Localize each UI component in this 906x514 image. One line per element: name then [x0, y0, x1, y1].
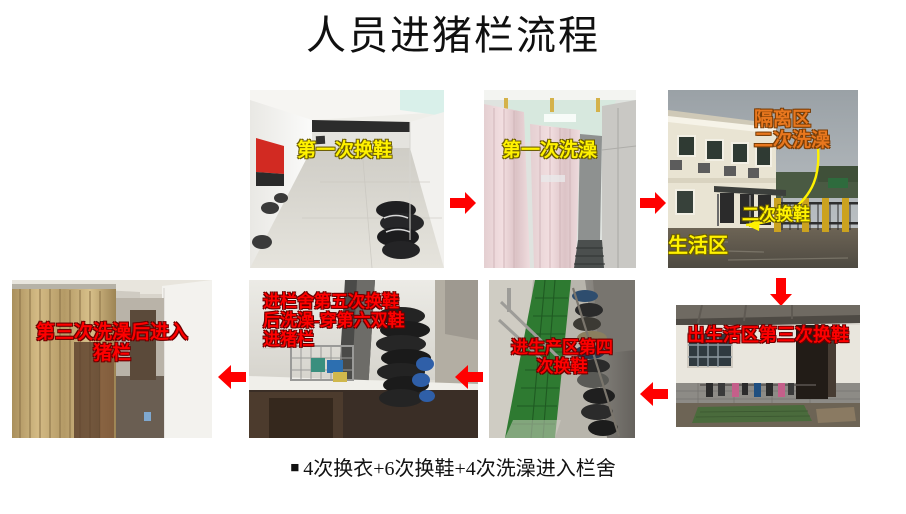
photo-step-3-isolation-zone[interactable]: 隔离区 二次洗澡 二次换鞋 生活区	[668, 90, 858, 268]
arrow-step5-to-step6	[455, 365, 483, 389]
footer-summary: ■4次换衣+6次换鞋+4次洗澡进入栏舍	[0, 452, 906, 481]
photo-step-2-scene	[484, 90, 636, 268]
arrow-right-icon	[640, 192, 666, 214]
photo-step-3-scene	[668, 90, 858, 268]
arrow-step4-to-step5	[640, 382, 668, 406]
photo-step-4-exit-living-area[interactable]: 出生活区第三次换鞋	[676, 305, 860, 427]
arrow-left-icon	[218, 365, 246, 389]
arrow-step3-to-step4	[770, 278, 792, 306]
photo-step-1-scene	[250, 90, 444, 268]
photo-step-4-scene	[676, 305, 860, 427]
footer-summary-text: 4次换衣+6次换鞋+4次洗澡进入栏舍	[303, 458, 616, 480]
arrow-step6-to-step7	[218, 365, 246, 389]
page-title: 人员进猪栏流程	[0, 12, 906, 60]
arrow-step1-to-step2	[450, 192, 476, 214]
photo-step-5-enter-production-area[interactable]: 进生产区第四 次换鞋	[489, 280, 635, 438]
arrow-left-icon	[640, 382, 668, 406]
arrow-step2-to-step3	[640, 192, 666, 214]
arrow-left-icon	[455, 365, 483, 389]
photo-step-6-scene	[249, 280, 478, 438]
photo-step-5-scene	[489, 280, 635, 438]
photo-step-7-third-shower[interactable]: 第三次洗澡后进入 猪栏	[12, 280, 212, 438]
footer-bullet-icon: ■	[290, 460, 299, 476]
photo-step-2-first-shower[interactable]: 第一次洗澡	[484, 90, 636, 268]
slide-canvas: 人员进猪栏流程	[0, 0, 906, 514]
photo-step-6-enter-barn[interactable]: 进栏舍第五次换鞋 后洗澡-穿第六双鞋 进猪栏	[249, 280, 478, 438]
arrow-down-icon	[770, 278, 792, 306]
arrow-right-icon	[450, 192, 476, 214]
photo-step-1-change-shoes[interactable]: 第一次换鞋	[250, 90, 444, 268]
photo-step-7-scene	[12, 280, 212, 438]
